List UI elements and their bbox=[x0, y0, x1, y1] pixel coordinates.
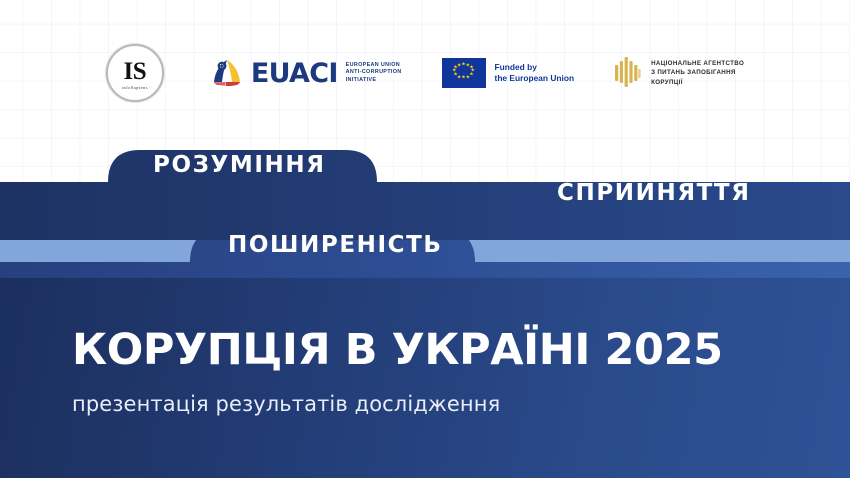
presentation-title-slide: IS infoSapiens EUACI EUROP bbox=[0, 0, 850, 478]
partner-logo-bar: IS infoSapiens EUACI EUROP bbox=[0, 44, 850, 102]
tab-label-perception[interactable]: СПРИЙНЯТТЯ bbox=[557, 180, 751, 206]
eu-funding-text: Funded by the European Union bbox=[495, 62, 575, 84]
euaci-emblem-icon bbox=[210, 57, 244, 89]
nazk-trident-icon bbox=[614, 56, 642, 90]
tab-label-prevalence[interactable]: ПОШИРЕНІСТЬ bbox=[228, 232, 443, 258]
logo-eu-funding: ★ ★ ★ ★ ★ ★ ★ ★ ★ ★ ★ ★ Funded by the Eu… bbox=[442, 58, 575, 88]
title-panel bbox=[0, 278, 850, 478]
infosapiens-monogram: IS bbox=[124, 60, 147, 84]
eu-flag-icon: ★ ★ ★ ★ ★ ★ ★ ★ ★ ★ ★ ★ bbox=[442, 58, 486, 88]
infosapiens-seal-icon: IS infoSapiens bbox=[106, 44, 164, 102]
nazk-text: НАЦІОНАЛЬНЕ АГЕНТСТВО З ПИТАНЬ ЗАПОБІГАН… bbox=[651, 59, 744, 87]
logo-infosapiens: IS infoSapiens bbox=[106, 44, 164, 102]
page-title: КОРУПЦІЯ В УКРАЇНІ 2025 bbox=[72, 325, 723, 375]
logo-euaci: EUACI EUROPEAN UNION ANTI-CORRUPTION INI… bbox=[210, 57, 402, 89]
euaci-wordmark: EUACI bbox=[251, 60, 338, 87]
page-subtitle: презентація результатів дослідження bbox=[72, 392, 500, 416]
euaci-tagline: EUROPEAN UNION ANTI-CORRUPTION INITIATIV… bbox=[346, 62, 402, 85]
tab-label-understanding[interactable]: РОЗУМІННЯ bbox=[153, 152, 326, 178]
infosapiens-wordmark: infoSapiens bbox=[122, 85, 148, 90]
logo-nazk: НАЦІОНАЛЬНЕ АГЕНТСТВО З ПИТАНЬ ЗАПОБІГАН… bbox=[614, 56, 744, 90]
